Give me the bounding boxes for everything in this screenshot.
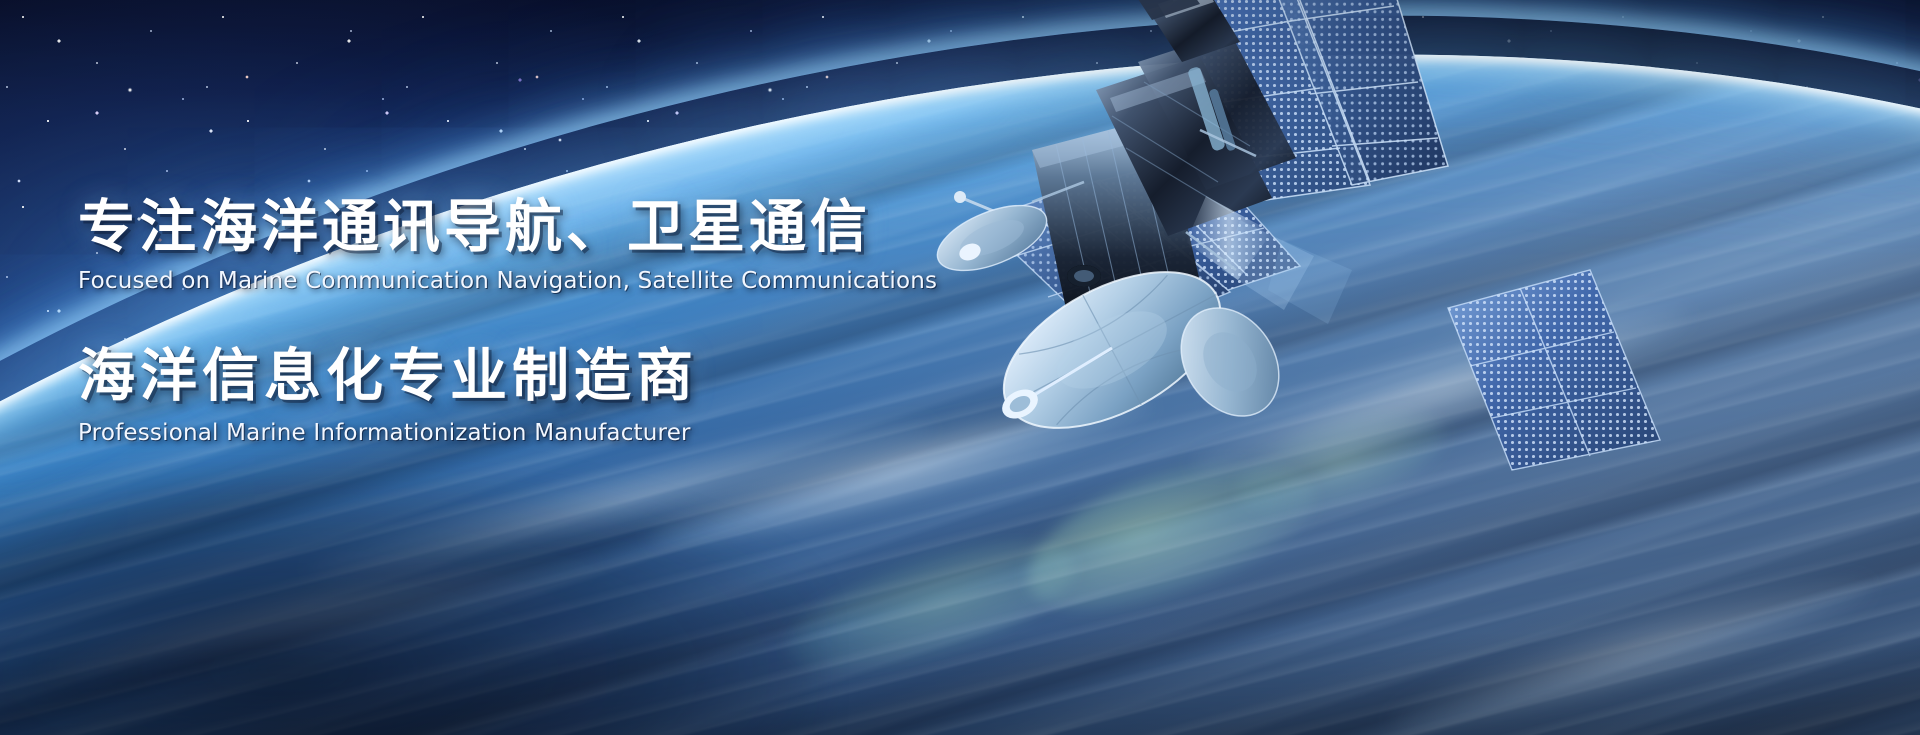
headline-1-english: Focused on Marine Communication Navigati… <box>78 268 1158 294</box>
headline-1-chinese: 专注海洋通讯导航、卫星通信 <box>78 196 1158 260</box>
headline-2-chinese: 海洋信息化专业制造商 <box>78 345 1158 409</box>
headline-group-2: 海洋信息化专业制造商 Professional Marine Informati… <box>78 345 1158 446</box>
hero-copy: 专注海洋通讯导航、卫星通信 Focused on Marine Communic… <box>78 196 1158 446</box>
earth-terminator-shadow <box>0 470 820 735</box>
hero-banner: 专注海洋通讯导航、卫星通信 Focused on Marine Communic… <box>0 0 1920 735</box>
headline-group-1: 专注海洋通讯导航、卫星通信 Focused on Marine Communic… <box>78 196 1158 294</box>
headline-2-english: Professional Marine Informationization M… <box>78 420 1158 446</box>
